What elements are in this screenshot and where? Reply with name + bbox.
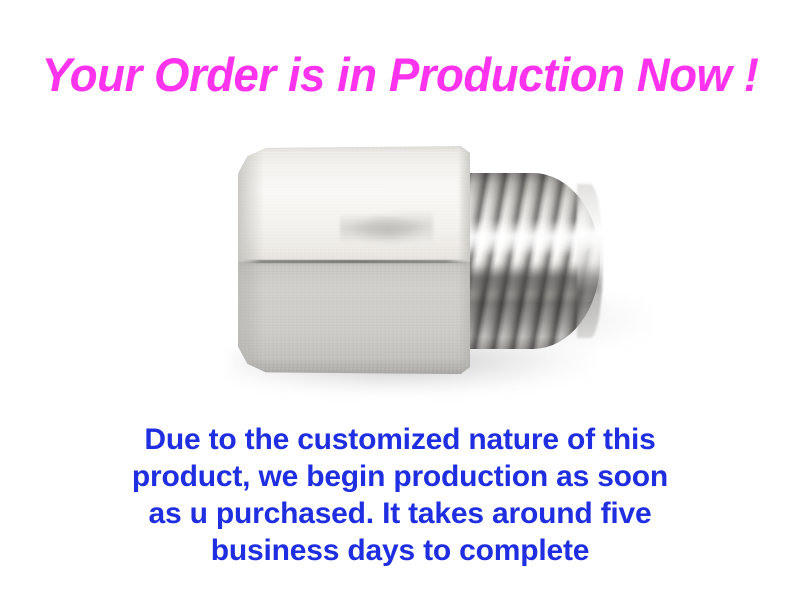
- product-photo: [200, 125, 640, 410]
- hex-machining-marks: [340, 210, 433, 246]
- hex-facet-seam: [242, 260, 469, 263]
- body-line-2: product, we begin production as soon: [0, 458, 800, 495]
- thread-end-cap: [577, 184, 603, 339]
- body-line-1: Due to the customized nature of this: [0, 421, 800, 458]
- promo-banner: Your Order is in Production Now ! Due to…: [0, 0, 800, 600]
- hex-left-chamfer: [238, 146, 264, 374]
- hex-right-edge: [458, 146, 470, 374]
- body-text: Due to the customized nature of this pro…: [0, 421, 800, 569]
- body-line-4: business days to complete: [0, 532, 800, 569]
- headline-text: Your Order is in Production Now !: [12, 49, 788, 101]
- hex-body: [238, 146, 470, 374]
- threaded-nipple: [454, 173, 600, 349]
- body-line-3: as u purchased. It takes around five: [0, 495, 800, 532]
